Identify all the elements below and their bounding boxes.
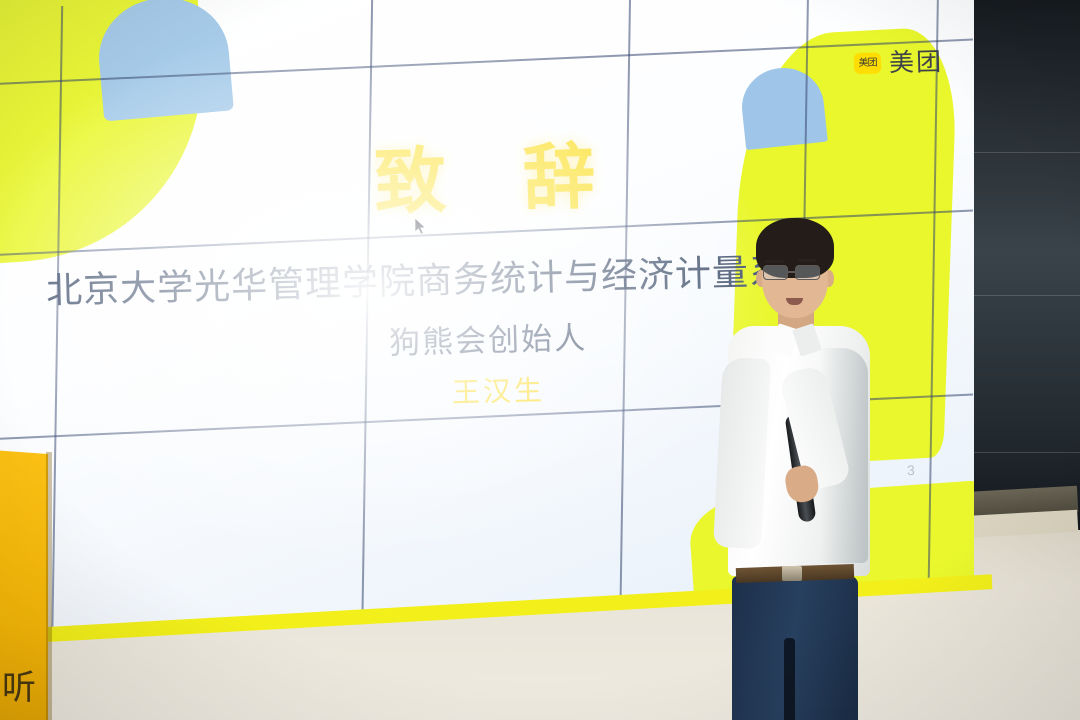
slide-role: 狗熊会创始人 <box>388 312 587 362</box>
meituan-logo: 美团 美团 <box>854 49 944 76</box>
slide-title: 致 辞 <box>373 117 623 229</box>
speaker-leg-gap <box>784 638 795 720</box>
speaker <box>700 218 890 720</box>
meituan-logo-mark: 美团 <box>854 52 882 74</box>
glasses-bridge <box>788 271 795 273</box>
glasses-lens-right <box>795 265 820 280</box>
slide-affiliation: 北京大学光华管理学院商务统计与经济计量系主 <box>45 242 806 314</box>
screenshot-stage: 美团 美团 致 辞 北京大学光华管理学院商务统计与经济计量系主 狗熊会创始人 王… <box>0 0 1080 720</box>
speaker-eyebrow-right <box>797 259 817 262</box>
speaker-arm-right <box>713 357 771 549</box>
speaker-eyebrow-left <box>765 260 785 263</box>
slide-page-number: 3 <box>907 462 915 478</box>
slide-speaker-name: 王汉生 <box>451 369 545 411</box>
speaker-trousers <box>732 576 858 720</box>
foreground-banner-edge <box>46 452 52 720</box>
speaker-belt-buckle <box>782 566 802 581</box>
foreground-banner-text: 听 <box>2 660 42 710</box>
mouse-cursor-icon <box>415 218 427 235</box>
decorative-blue-dome-left <box>94 0 234 121</box>
glasses-lens-left <box>763 265 788 280</box>
